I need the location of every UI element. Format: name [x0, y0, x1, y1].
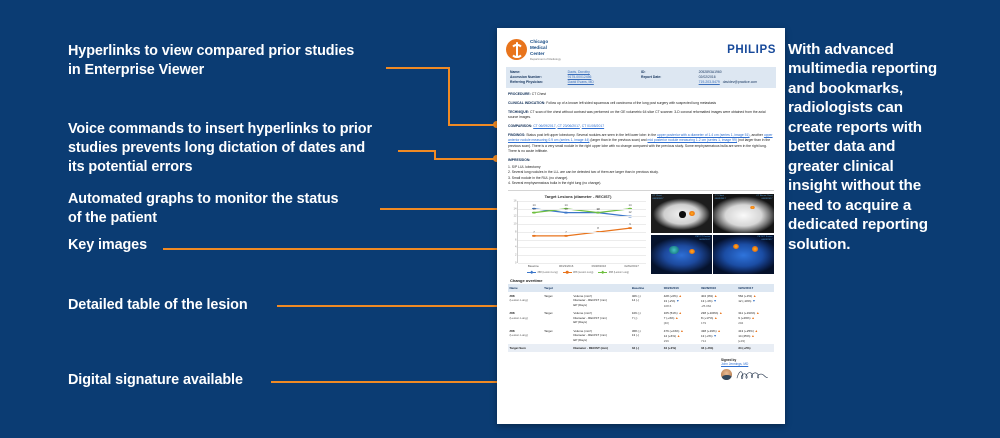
cell-date-1: 428 (+6%) ▲13 (-2%) ▼108.6 — [662, 292, 699, 310]
legend-swatch — [598, 272, 607, 274]
cell-target: Target — [543, 327, 572, 345]
th-baseline: Baseline — [630, 284, 662, 291]
cell-metric: Diameter - RECIST (mm) — [572, 344, 631, 352]
th-name: Name — [508, 284, 543, 291]
cell-date-1: 165 (51%) ▲7 (+4%) ▲[40] — [662, 309, 699, 327]
cell-date-3: 34 (+2%) — [737, 344, 774, 352]
th-date-1: 06/23/2016 — [662, 284, 699, 291]
arrow-up-icon: ▲ — [756, 311, 759, 315]
cell-target: Target — [543, 309, 572, 327]
patient-field: Referring Physician: David Evans, MD — [510, 80, 641, 85]
chart-point-label: 14 — [628, 203, 631, 207]
chart-x-tick: Baseline — [517, 264, 550, 268]
cell-date-2: 238 (+109%) ▲8 (+17%) ▲179 — [699, 309, 736, 327]
arrow-up-icon: ▲ — [714, 316, 717, 320]
findings-link-1[interactable]: upper posterior with a diameter of 1.4 c… — [657, 133, 750, 137]
chart-point-label: 14 — [564, 203, 567, 207]
legend-swatch — [527, 272, 536, 274]
cell-baseline: 34 (-) — [630, 344, 662, 352]
chart-point — [628, 227, 632, 229]
chart-point-label: 9 — [629, 222, 631, 226]
hospital-tagline: Department of Radiology — [530, 57, 561, 61]
divider — [508, 190, 774, 191]
chart-x-tick: 06/23/2016 — [550, 264, 583, 268]
chart-legend: #88 (Lesion Lung)#88 (Lesion Lung)#88 (L… — [508, 271, 648, 274]
right-description-text: With advanced multimedia reporting and b… — [788, 40, 938, 254]
chart-x-axis: Baseline06/23/201609/28/201602/02/2017 — [517, 264, 648, 268]
section-clinical-indication: CLINICAL INDICATION: Follow up of a know… — [508, 101, 774, 107]
arrow-up-icon: ▲ — [677, 334, 680, 338]
chart-plot-area: 024681012141614131312778913141314 — [517, 201, 646, 263]
arrow-up-icon: ▲ — [679, 294, 682, 298]
impression-item: 4. Several emphysematous bulla in the ri… — [508, 181, 774, 187]
chart-y-tick: 0 — [515, 261, 517, 264]
cell-value: 239 — [664, 339, 698, 343]
chart-gridline — [518, 240, 646, 241]
section-text: CT Chest — [531, 92, 546, 96]
arrow-up-icon: ▲ — [753, 294, 756, 298]
section-comparison: COMPARISON: CT 06/09/2017, CT 23/06/2017… — [508, 124, 774, 130]
field-value-phone[interactable]: 719-203-5479 — [699, 80, 720, 85]
chart-legend-item: #88 (Lesion Lung) — [563, 271, 594, 274]
impression-items: 1. S/P LUL lobectomy 2. Several lung nod… — [508, 165, 774, 187]
section-findings: FINDINGS: Status post left upper lobecto… — [508, 133, 774, 155]
section-impression: IMPRESSION: 1. S/P LUL lobectomy 2. Seve… — [508, 158, 774, 187]
signature-block: Signed by John Jennings, MD — [508, 358, 774, 381]
chart-y-tick: 2 — [515, 254, 517, 257]
patient-field: 719-203-5479 davidev@practice.com — [641, 80, 772, 85]
legend-label: #88 (Lesion Lung) — [573, 271, 593, 274]
chart-point-label: 13 — [532, 207, 535, 211]
key-image-coronal-ct[interactable]: CT Chest 06/09/2017 CT Recon Chest 06/09… — [713, 194, 774, 233]
arrow-up-icon: ▲ — [680, 329, 683, 333]
report-body: PROCEDURE: CT Chest CLINICAL INDICATION:… — [506, 88, 776, 381]
cell-target — [543, 344, 572, 352]
chart-y-tick: 10 — [514, 223, 517, 226]
chart-gridline — [518, 263, 646, 264]
chart-point — [532, 235, 536, 237]
cell-value: 204 — [738, 321, 772, 325]
section-label: CLINICAL INDICATION: — [508, 101, 545, 105]
findings-s4: (larger than in the previous scan) and — [589, 138, 647, 142]
arrow-up-icon: ▲ — [751, 334, 754, 338]
patient-info-band: Name: Davis, Dorothy Accession Number: 9… — [506, 67, 776, 88]
cell-date-3: 413 (+25%) ▲14 (45%) ▲[e33] — [737, 327, 774, 345]
chart-y-tick: 8 — [515, 230, 517, 233]
section-label: COMPARISON: — [508, 124, 532, 128]
chart-point-label: 7 — [533, 230, 535, 234]
field-value-email: davidev@practice.com — [723, 80, 757, 85]
cell-value: [e33] — [738, 339, 772, 343]
cell-value: [40] — [664, 321, 698, 325]
arrow-down-icon: ▼ — [713, 334, 716, 338]
cell-target: Target — [543, 292, 572, 310]
chart-gridline — [518, 209, 646, 210]
signer-name-link[interactable]: John Jennings, MD — [721, 362, 768, 366]
cell-value: -25.062 — [701, 304, 735, 308]
key-images-grid[interactable]: CT Chest 06/09/2017 CT Chest 06/09/2017 … — [651, 194, 774, 274]
cell-name: #88(Lesion Lung) — [508, 309, 543, 327]
patient-info-right: ID: 2052893A1960 Report Date: 02/02/2016… — [641, 70, 772, 86]
cell-date-2: 404 (0%) ▲13 (-4%) ▼-25.062 — [699, 292, 736, 310]
table-row: #88(Lesion Lung)TargetVolume (mm³)Diamet… — [508, 292, 774, 310]
cell-baseline: 109 (-) 7 (-) — [630, 309, 662, 327]
slide-canvas: Hyperlinks to view compared prior studie… — [0, 0, 1000, 438]
key-image-pet-fusion-2[interactable]: PET/CT Fusion 06/09/2017 — [713, 235, 774, 274]
section-technique: TECHNIQUE: CT scan of the chest without … — [508, 110, 774, 121]
chart-point — [596, 212, 600, 214]
chart-gridline — [518, 232, 646, 233]
th-metric — [572, 284, 631, 291]
patient-info-left: Name: Davis, Dorothy Accession Number: 9… — [510, 70, 641, 86]
radiology-report-document[interactable]: Chicago Medical Center Department of Rad… — [497, 28, 785, 424]
arrow-up-icon: ▲ — [675, 316, 678, 320]
th-target: Target — [543, 284, 572, 291]
callout-hyperlinks-prior-studies: Hyperlinks to view compared prior studie… — [68, 42, 398, 80]
arrow-up-icon: ▲ — [714, 294, 717, 298]
chart-point — [564, 212, 568, 214]
cell-date-1: 476 (+24%) ▲14 (+6%) ▲239 — [662, 327, 699, 345]
field-label — [641, 80, 699, 85]
chart-y-tick: 14 — [514, 207, 517, 210]
legend-label: #88 (Lesion Lung) — [609, 271, 629, 274]
comparison-link-3[interactable]: CT 01/05/2017 — [582, 124, 604, 128]
section-text: CT scan of the chest without contrast wa… — [508, 110, 766, 120]
chart-gridline — [518, 216, 646, 217]
arrow-down-icon: ▼ — [752, 299, 755, 303]
findings-link-3[interactable]: mid posterior nodule measuring 1.2 cm (s… — [647, 138, 737, 142]
th-date-2: 09/28/2016 — [699, 284, 736, 291]
chart-y-tick: 4 — [515, 246, 517, 249]
cell-baseline: 368 (-) 13 (-) — [630, 327, 662, 345]
chart-title: Target Lesions (diameter - RECIST) — [508, 194, 648, 199]
arrow-up-icon: ▲ — [719, 311, 722, 315]
arrow-up-icon: ▲ — [755, 329, 758, 333]
caduceus-icon — [506, 39, 527, 60]
chart-point-label: 13 — [596, 207, 599, 211]
arrow-up-icon: ▲ — [717, 329, 720, 333]
cell-value — [632, 303, 661, 307]
cell-metrics: Volume (mm³)Diameter - RECIST (mm)EP (Da… — [572, 309, 631, 327]
key-image-pet-fusion-1[interactable]: PET/CT Fusion 06/09/2017 — [651, 235, 712, 274]
chart-legend-item: #88 (Lesion Lung) — [598, 271, 629, 274]
section-label: IMPRESSION: — [508, 158, 530, 162]
cell-date-3: 311 (+194%) ▲9 (+29%) ▲204 — [737, 309, 774, 327]
handwritten-signature — [736, 368, 768, 381]
cell-value: 714 — [701, 339, 735, 343]
chart-point-label: 8 — [597, 226, 599, 230]
cell-name: Target Sum — [508, 344, 543, 352]
comparison-link-2[interactable]: CT 23/06/2017 — [557, 124, 579, 128]
cell-name: #88(Lesion Lung) — [508, 292, 543, 310]
philips-brand: PHILIPS — [727, 44, 776, 56]
image-label-right: PET/CT Fusion 06/09/2017 — [695, 236, 710, 242]
section-label: TECHNIQUE: — [508, 110, 529, 114]
cell-date-3: 562 (+3%) ▲12 (-10%) ▼ — [737, 292, 774, 310]
chart-point — [532, 212, 536, 214]
image-label-right: CT Recon Chest 06/09/2017 — [756, 195, 772, 201]
cell-metrics: Volume (mm³)Diameter - RECIST (mm)EP (Da… — [572, 292, 631, 310]
cell-value: 108.6 — [664, 304, 698, 308]
section-label: PROCEDURE: — [508, 92, 531, 96]
table-row: #88(Lesion Lung)TargetVolume (mm³)Diamet… — [508, 327, 774, 345]
findings-s2: , another — [750, 133, 764, 137]
chart-y-tick: 16 — [514, 199, 517, 202]
chart-y-tick: 12 — [514, 215, 517, 218]
chart-gridline — [518, 201, 646, 202]
document-header: Chicago Medical Center Department of Rad… — [506, 35, 776, 65]
table-title: Change overtime — [510, 278, 774, 283]
callout-voice-commands: Voice commands to insert hyperlinks to p… — [68, 120, 408, 177]
legend-label: #88 (Lesion Lung) — [538, 271, 558, 274]
arrow-down-icon: ▼ — [676, 299, 679, 303]
callout-key-images: Key images — [68, 236, 268, 255]
field-value-physician[interactable]: David Evans, MD — [568, 80, 594, 85]
change-overtime-table: Name Target Baseline 06/23/2016 09/28/20… — [508, 284, 774, 352]
arrow-up-icon: ▲ — [678, 311, 681, 315]
target-lesions-chart: Target Lesions (diameter - RECIST) 02468… — [508, 194, 648, 274]
chart-y-tick: 6 — [515, 238, 517, 241]
cell-date-2: 34 (+3%) — [699, 344, 736, 352]
impression-label-wrap: IMPRESSION: — [508, 158, 774, 164]
chart-gridline — [518, 224, 646, 225]
chart-and-images-row: Target Lesions (diameter - RECIST) 02468… — [508, 194, 774, 274]
image-label: CT Chest 06/09/2017 — [715, 195, 726, 201]
cell-date-1: 34 (+2%) — [662, 344, 699, 352]
comparison-link-1[interactable]: CT 06/09/2017 — [533, 124, 555, 128]
chart-point — [564, 235, 568, 237]
chart-point-label: 7 — [565, 230, 567, 234]
chart-x-tick: 02/02/2017 — [615, 264, 648, 268]
section-procedure: PROCEDURE: CT Chest — [508, 92, 774, 98]
legend-swatch — [563, 272, 572, 274]
arrow-down-icon: ▼ — [713, 299, 716, 303]
chart-point-label: 12 — [628, 210, 631, 214]
chart-x-tick: 09/28/2016 — [583, 264, 616, 268]
chart-gridline — [518, 247, 646, 248]
table-header-row: Name Target Baseline 06/23/2016 09/28/20… — [508, 284, 774, 291]
cell-value: 179 — [701, 321, 735, 325]
chart-point-label: 13 — [564, 207, 567, 211]
cell-name: #88(Lesion Lung) — [508, 327, 543, 345]
cell-value — [632, 338, 661, 342]
hospital-logo: Chicago Medical Center Department of Rad… — [506, 39, 561, 60]
section-label: FINDINGS: — [508, 133, 525, 137]
chart-legend-item: #88 (Lesion Lung) — [527, 271, 558, 274]
arrow-up-icon: ▲ — [751, 316, 754, 320]
callout-automated-graphs: Automated graphs to monitor the status o… — [68, 190, 388, 228]
image-label-right: PET/CT Fusion 06/09/2017 — [758, 236, 773, 242]
signature-row — [721, 368, 768, 381]
cell-metrics: Volume (mm³)Diameter - RECIST (mm)EP (Da… — [572, 327, 631, 345]
field-label: Referring Physician: — [510, 80, 568, 85]
cell-baseline: 406 (-) 14 (-) — [630, 292, 662, 310]
cell-date-2: 438 (+19%) ▲13 (-2%) ▼714 — [699, 327, 736, 345]
cell-value — [738, 304, 772, 308]
key-image-axial-ct[interactable]: CT Chest 06/09/2017 — [651, 194, 712, 233]
th-date-3: 02/02/2017 — [737, 284, 774, 291]
cell-value — [632, 320, 661, 324]
image-label: CT Chest 06/09/2017 — [653, 195, 664, 201]
table-summary-row: Target SumDiameter - RECIST (mm)34 (-)34… — [508, 344, 774, 352]
section-text: Follow up of a known left sided squamous… — [545, 101, 716, 105]
hospital-name: Chicago Medical Center — [530, 39, 561, 56]
signature-inner: Signed by John Jennings, MD — [721, 358, 768, 381]
chart-gridline — [518, 255, 646, 256]
table-row: #88(Lesion Lung)TargetVolume (mm³)Diamet… — [508, 309, 774, 327]
signer-avatar — [721, 369, 732, 380]
callout-detailed-table: Detailed table of the lesion — [68, 296, 298, 315]
findings-s0: Status post left upper lobectomy. Severa… — [525, 133, 657, 137]
